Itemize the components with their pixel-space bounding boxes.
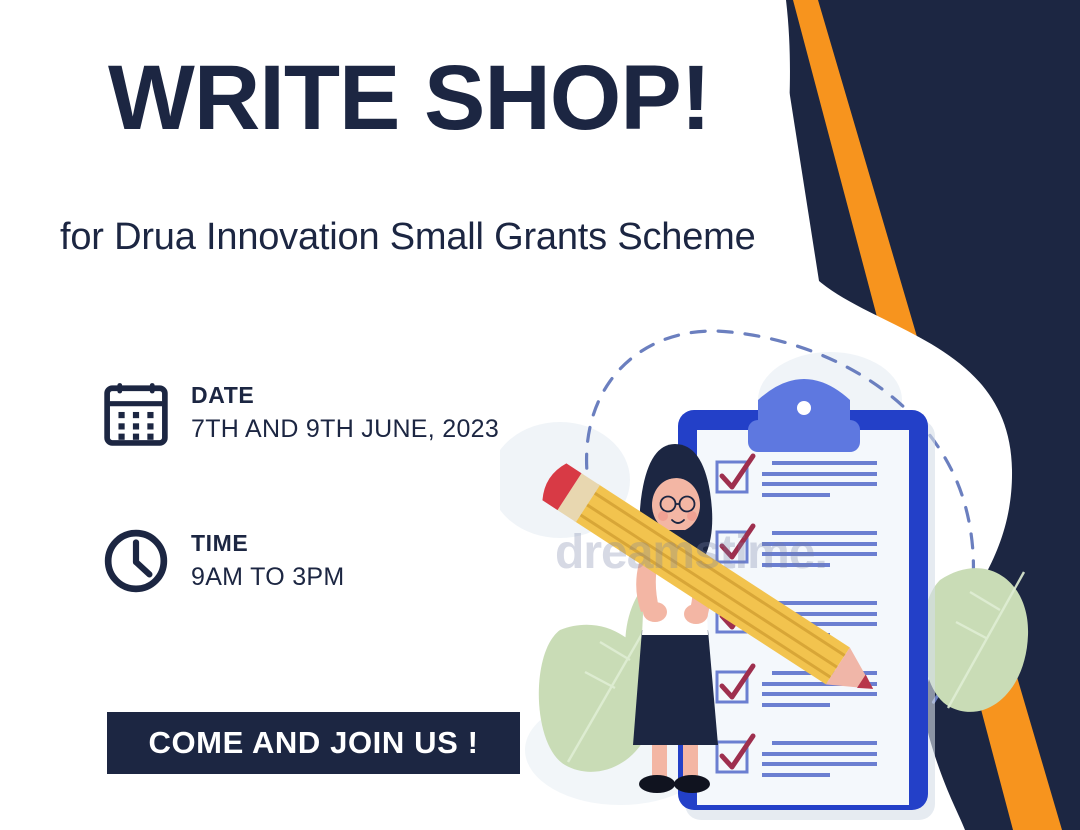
- detail-value-date: 7TH AND 9TH JUNE, 2023: [191, 415, 499, 444]
- detail-label-time: TIME: [191, 530, 345, 557]
- detail-row-time: TIME 9AM TO 3PM: [103, 528, 345, 594]
- join-us-banner[interactable]: COME AND JOIN US !: [107, 712, 520, 774]
- join-us-label: COME AND JOIN US !: [148, 725, 478, 761]
- page-title: WRITE SHOP!: [108, 52, 710, 144]
- detail-text-time: TIME 9AM TO 3PM: [191, 530, 345, 592]
- page-subtitle: for Drua Innovation Small Grants Scheme: [60, 216, 756, 259]
- detail-label-date: DATE: [191, 382, 499, 409]
- calendar-icon: [103, 380, 169, 446]
- detail-value-time: 9AM TO 3PM: [191, 563, 345, 592]
- detail-text-date: DATE 7TH AND 9TH JUNE, 2023: [191, 382, 499, 444]
- detail-row-date: DATE 7TH AND 9TH JUNE, 2023: [103, 380, 499, 446]
- clock-icon: [103, 528, 169, 594]
- poster-canvas: WRITE SHOP! for Drua Innovation Small Gr…: [0, 0, 1080, 830]
